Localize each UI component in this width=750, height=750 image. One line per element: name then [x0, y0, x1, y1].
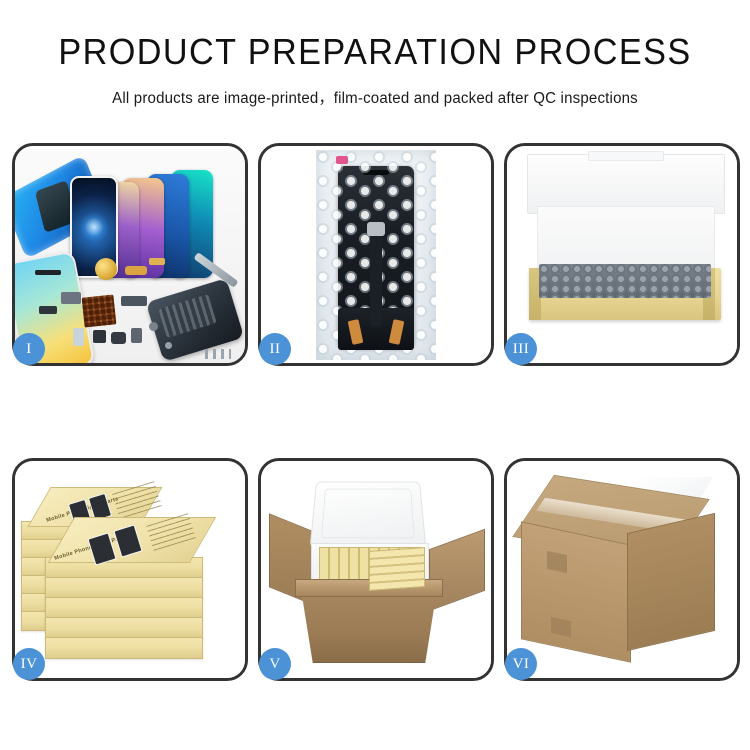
product-preparation-infographic: PRODUCT PREPARATION PROCESS All products… [0, 0, 750, 750]
process-step-5[interactable]: V [258, 458, 494, 681]
process-step-1[interactable]: I [12, 143, 248, 366]
spare-part-graphic [61, 292, 81, 304]
step-badge-label: I [26, 341, 32, 358]
spare-part-graphic [131, 328, 142, 343]
carton-body [295, 589, 443, 663]
product-components-image [15, 146, 245, 363]
spare-part-graphic [35, 270, 61, 275]
carton-side-face [627, 513, 715, 651]
stacked-box [45, 597, 203, 619]
carton-loading-image [261, 461, 491, 678]
styrofoam-lid-graphic [310, 482, 427, 549]
spare-part-graphic [165, 342, 172, 349]
spare-part-graphic [39, 306, 57, 314]
stacked-box [45, 637, 203, 659]
sealed-carton-image [507, 461, 737, 678]
step-badge-3: III [505, 333, 537, 365]
step-badge-label: IV [21, 656, 38, 673]
spare-part-graphic [121, 296, 147, 306]
header: PRODUCT PREPARATION PROCESS All products… [0, 0, 750, 108]
process-step-3[interactable]: III [504, 143, 740, 366]
foam-lid-graphic [527, 154, 725, 214]
process-step-6[interactable]: VI [504, 458, 740, 681]
process-step-4[interactable]: Mobile Phone Spare Parts Mobile Phone Sp… [12, 458, 248, 681]
spare-part-graphic [73, 328, 84, 346]
page-subtitle: All products are image-printed，film-coat… [11, 86, 739, 108]
spare-part-graphic [125, 266, 147, 275]
process-step-grid: I II [12, 143, 740, 681]
step-badge-5: V [259, 648, 291, 680]
connector-graphic [367, 222, 385, 236]
screws-graphic [205, 349, 231, 359]
spare-part-graphic [93, 330, 106, 343]
step-badge-2: II [259, 333, 291, 365]
connector-grid-graphic [82, 294, 117, 327]
speaker-part-graphic [95, 258, 117, 280]
stacked-box [45, 617, 203, 639]
spare-part-graphic [149, 322, 158, 331]
bubble-wrap-bag-graphic [316, 150, 436, 360]
spare-part-graphic [111, 332, 126, 344]
flex-cable-graphic [370, 228, 382, 326]
step-badge-1: I [13, 333, 45, 365]
stacked-box [45, 577, 203, 599]
pink-label-graphic [336, 156, 348, 164]
single-box-packing-image [507, 146, 737, 363]
stacked-retail-boxes-image: Mobile Phone Spare Parts Mobile Phone Sp… [15, 461, 245, 678]
step-badge-label: III [513, 341, 530, 358]
spare-part-graphic [149, 258, 165, 265]
step-badge-label: VI [513, 656, 530, 673]
step-badge-6: VI [505, 648, 537, 680]
page-title: PRODUCT PREPARATION PROCESS [19, 34, 732, 70]
carton-flap-right [429, 529, 485, 611]
bubble-wrap-insert-graphic [539, 264, 711, 298]
box-stack-graphic: Mobile Phone Spare Parts Mobile Phone Sp… [15, 461, 245, 678]
step-badge-4: IV [13, 648, 45, 680]
yellow-boxes-inside [369, 547, 425, 591]
step-badge-label: V [269, 656, 280, 673]
carton-front-face [521, 521, 631, 662]
process-step-2[interactable]: II [258, 143, 494, 366]
step-badge-label: II [270, 341, 281, 358]
bubble-wrapped-screen-image [261, 146, 491, 363]
